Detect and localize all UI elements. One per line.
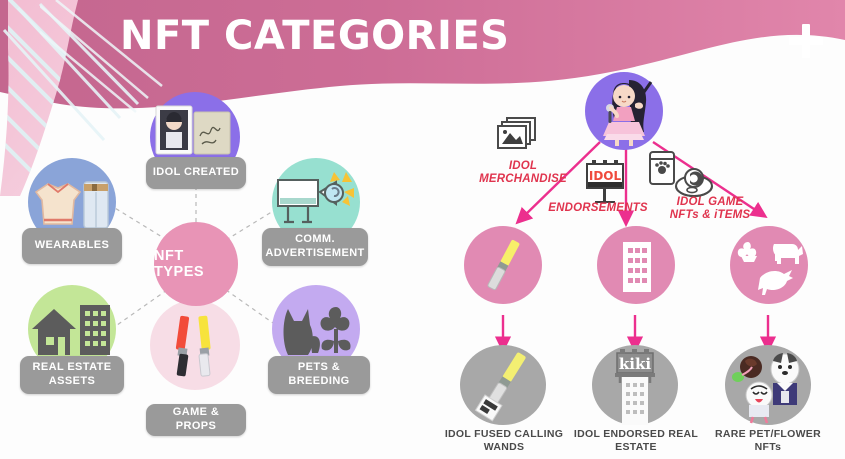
flower-dog-bird-icon: [730, 226, 808, 304]
glow-stick-photo-icon: [460, 345, 546, 425]
idol-singer-avatar-icon: [585, 72, 663, 150]
svg-text:IDOL: IDOL: [589, 169, 622, 183]
glow-stick-penlight-icon: [464, 226, 542, 304]
caption-rare-pet-flower-nfts: RARE PET/FLOWER NFTs: [706, 428, 830, 454]
node-circle-rare-pet-flower-nfts[interactable]: [725, 345, 811, 425]
node-circle-calling-wand[interactable]: [464, 226, 542, 304]
infographic-canvas: NFT CATEGORIES: [0, 0, 845, 459]
caption-idol-fused-calling-wands: IDOL FUSED CALLING WANDS: [438, 428, 570, 454]
flow-label-idol-game-nfts: IDOL GAME NFTs & iTEMS: [648, 196, 772, 222]
node-circle-office-building[interactable]: [597, 226, 675, 304]
flow-arrows: [0, 0, 845, 459]
node-circle-idol-endorsed-real-estate[interactable]: kiki: [592, 345, 678, 425]
office-building-icon: [597, 226, 675, 304]
caption-idol-endorsed-real-estate: IDOL ENDORSED REAL ESTATE: [572, 428, 700, 454]
idol-billboard-icon: IDOL: [583, 158, 627, 204]
pet-food-can-bowl-icon: [646, 150, 714, 202]
node-circle-idol-source[interactable]: [585, 72, 663, 150]
photo-stack-icon: [497, 116, 539, 152]
svg-text:kiki: kiki: [619, 355, 651, 373]
pet-characters-flower-icon: [725, 345, 811, 425]
node-circle-pet-flower[interactable]: [730, 226, 808, 304]
flow-label-endorsements: ENDORSEMENTS: [538, 202, 658, 215]
kiki-billboard-building-icon: kiki: [592, 345, 678, 425]
flow-label-idol-merchandise: IDOL MERCHANDISE: [468, 160, 578, 186]
node-circle-idol-fused-calling-wands[interactable]: [460, 345, 546, 425]
